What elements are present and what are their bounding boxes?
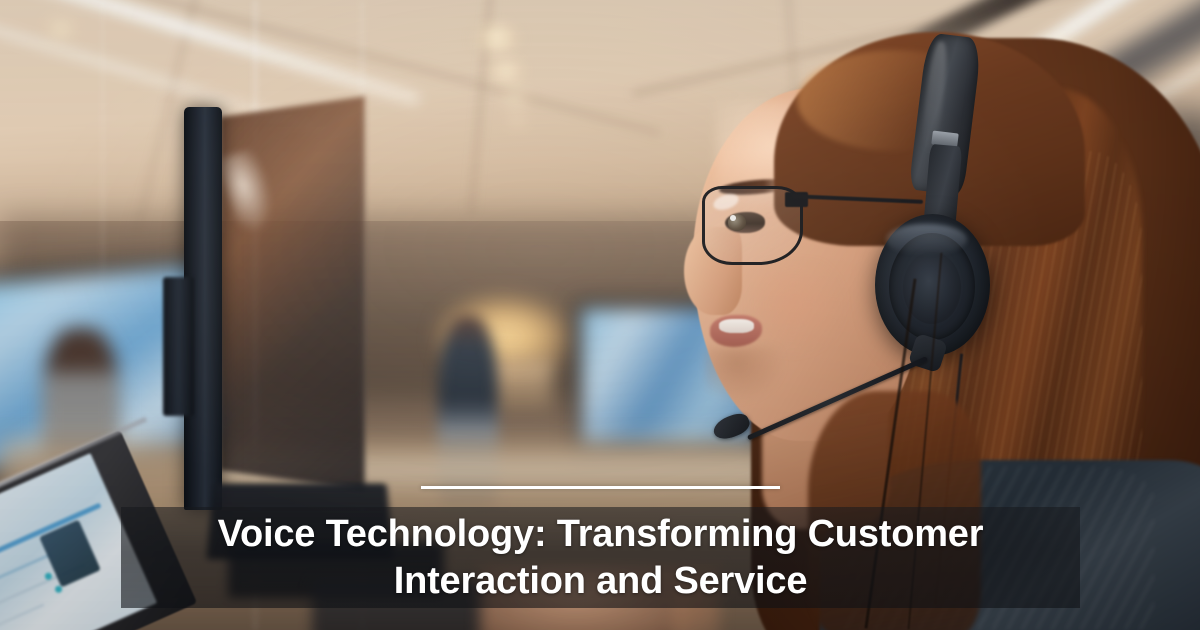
ceiling-downlight	[42, 19, 80, 39]
chin-shadow	[705, 347, 786, 404]
teeth	[719, 319, 754, 333]
laptop-ui-row	[0, 603, 45, 630]
page-title-line-1: Voice Technology: Transforming Customer	[218, 511, 984, 558]
headset-earcup-highlight	[886, 224, 967, 256]
page-title-line-2: Interaction and Service	[394, 558, 808, 605]
page-title: Voice Technology: Transforming Customer …	[121, 507, 1080, 608]
title-divider-rule	[421, 486, 780, 489]
caption-overlay-band: Voice Technology: Transforming Customer …	[121, 507, 1080, 608]
cheek-shading	[751, 265, 843, 353]
monitor-stand-neck	[163, 277, 194, 416]
ceiling-downlight	[474, 25, 520, 51]
hero-banner: Voice Technology: Transforming Customer …	[0, 0, 1200, 630]
ceiling-downlight	[486, 60, 526, 82]
